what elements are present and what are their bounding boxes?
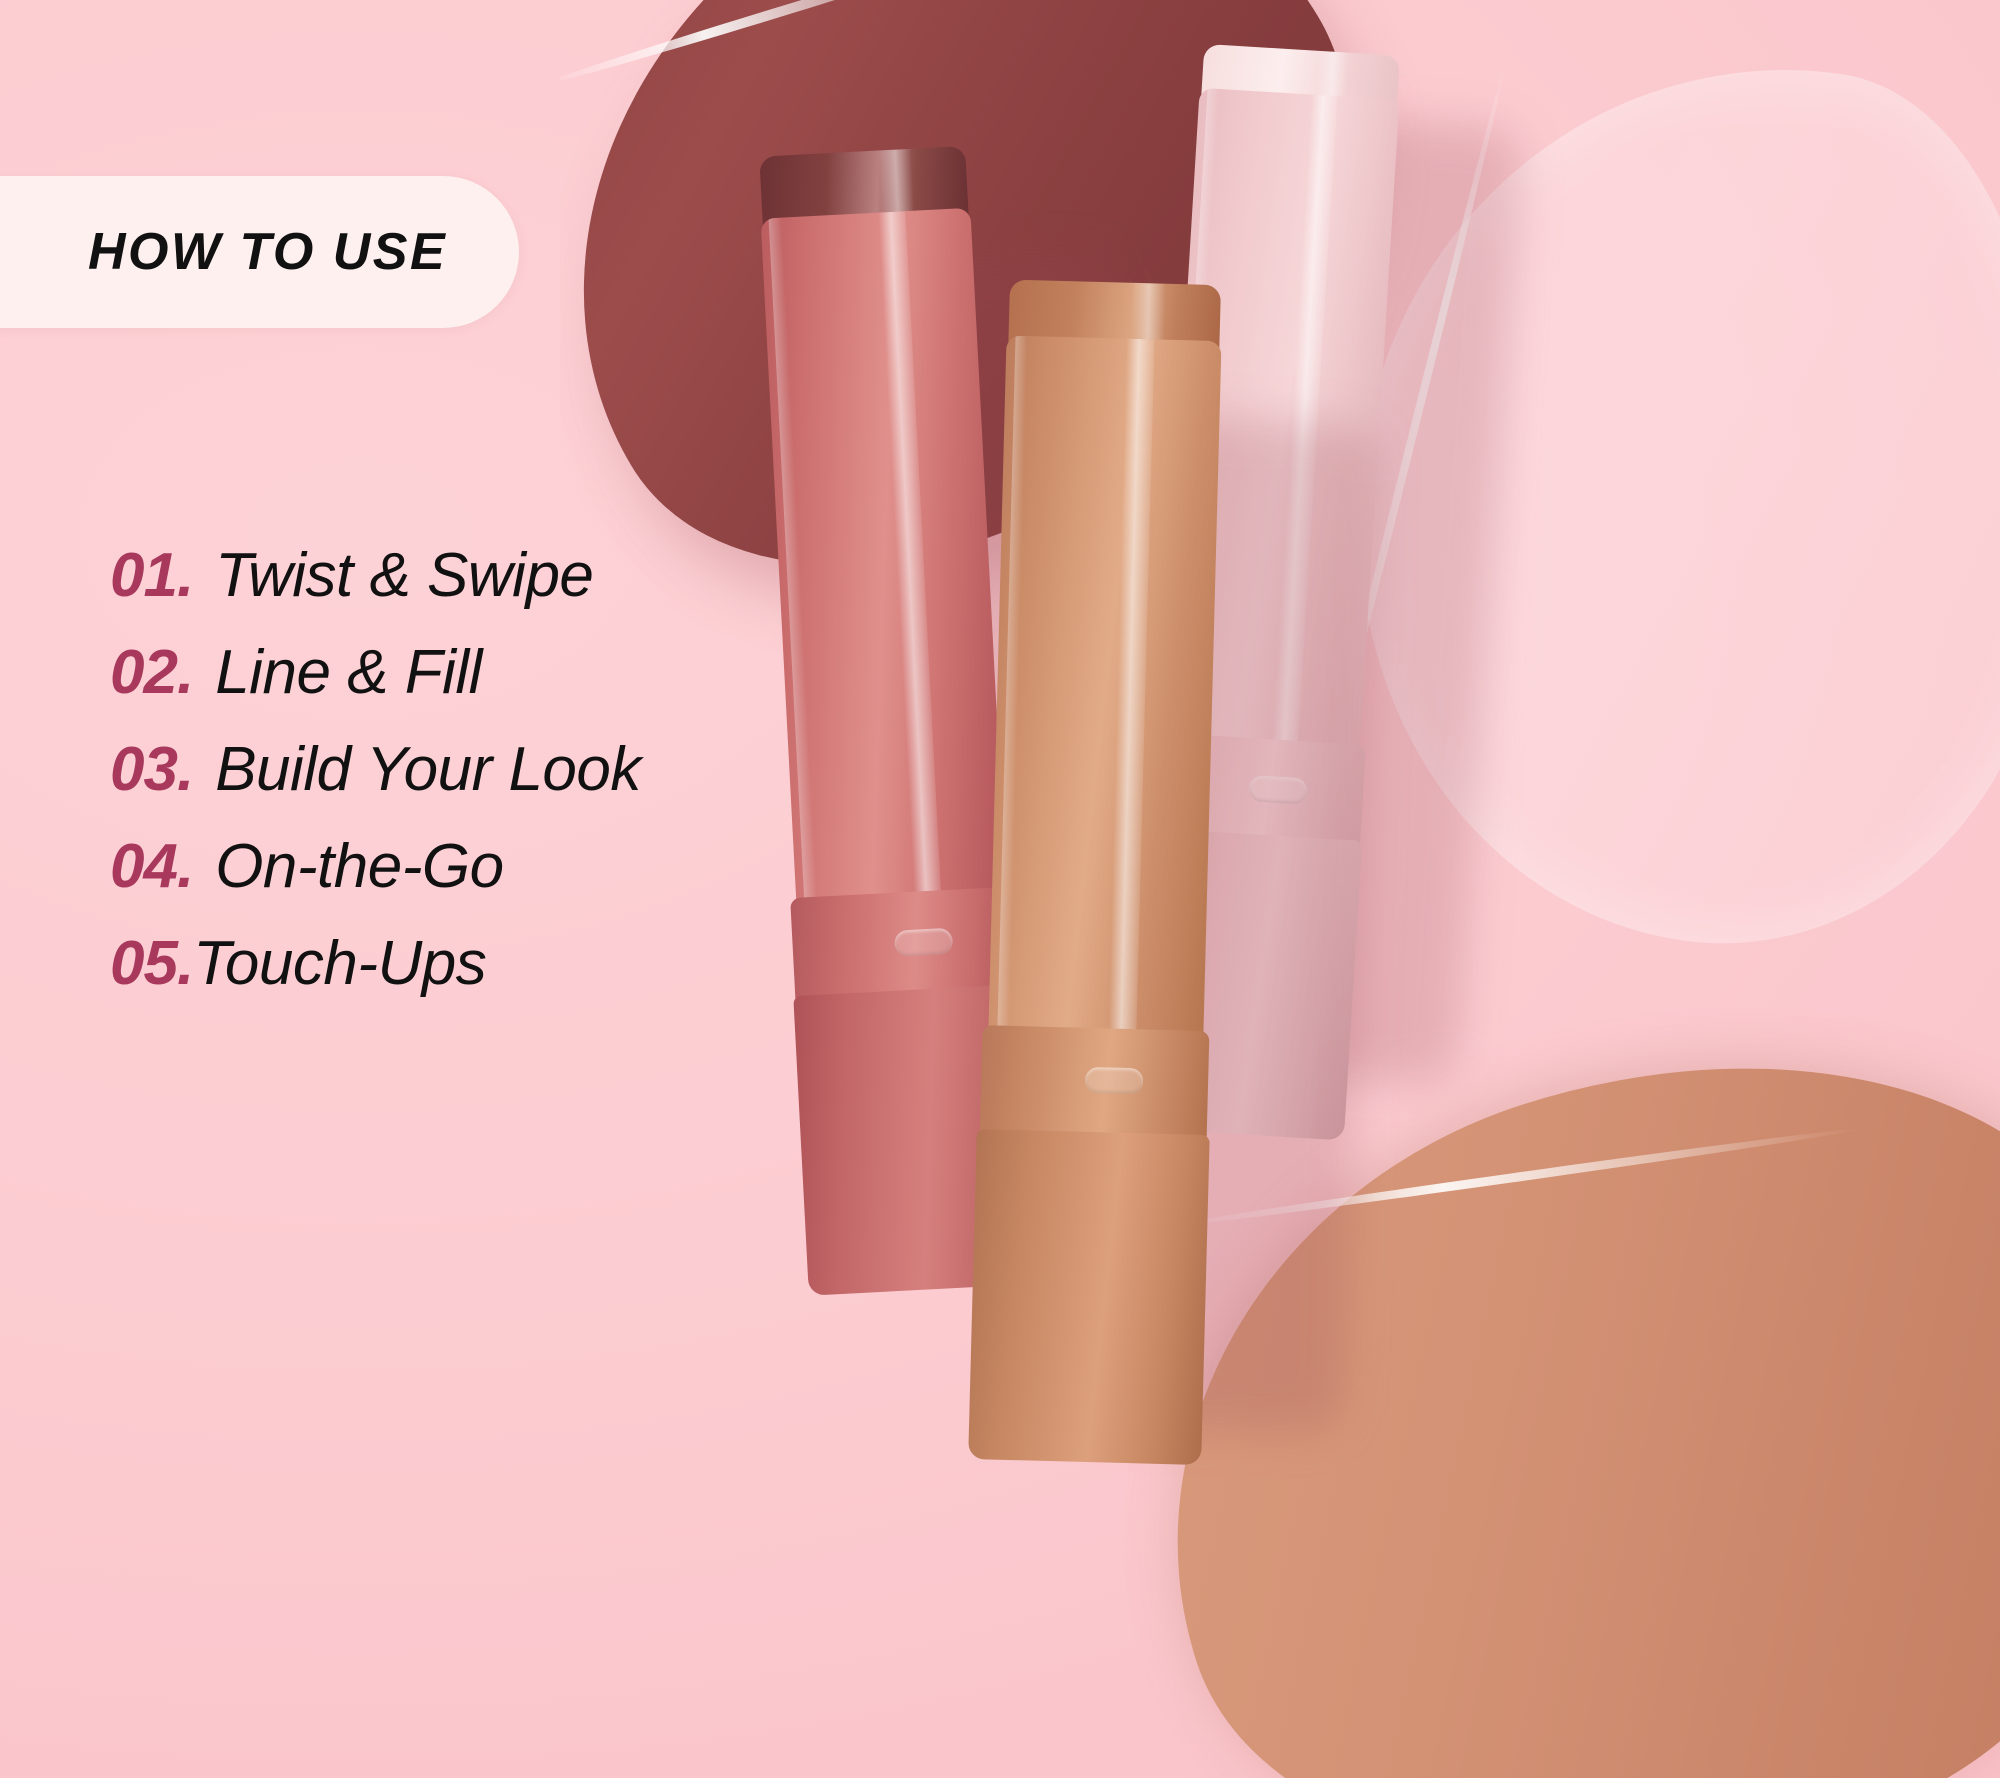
nude-tube-base — [969, 1129, 1210, 1465]
nude-tube-shine — [1109, 339, 1155, 1039]
list-item: 05. Touch-Ups — [110, 928, 970, 1025]
nude-tube-notch — [1085, 1067, 1144, 1095]
nude-tube — [980, 280, 1223, 1355]
list-item: 04. On-the-Go — [110, 831, 970, 928]
step-label: Touch-Ups — [193, 928, 486, 999]
list-item: 03. Build Your Look — [110, 734, 970, 831]
step-label: Build Your Look — [193, 734, 641, 805]
step-number: 01. — [110, 540, 193, 611]
step-number: 02. — [110, 637, 193, 708]
steps-list: 01. Twist & Swipe 02. Line & Fill 03. Bu… — [110, 540, 970, 1025]
step-number: 04. — [110, 831, 193, 902]
step-label: Twist & Swipe — [193, 540, 593, 611]
how-to-use-badge: HOW TO USE — [0, 176, 519, 328]
nude-tube-shaft — [988, 336, 1221, 1041]
step-number: 03. — [110, 734, 193, 805]
step-number: 05. — [110, 928, 193, 999]
list-item: 01. Twist & Swipe — [110, 540, 970, 637]
badge-label: HOW TO USE — [88, 222, 447, 282]
how-to-use-promo-graphic: HOW TO USE 01. Twist & Swipe 02. Line & … — [0, 0, 2000, 1778]
step-label: Line & Fill — [193, 637, 482, 708]
step-label: On-the-Go — [193, 831, 503, 902]
nude-tube-collar — [979, 1025, 1210, 1147]
list-item: 02. Line & Fill — [110, 637, 970, 734]
